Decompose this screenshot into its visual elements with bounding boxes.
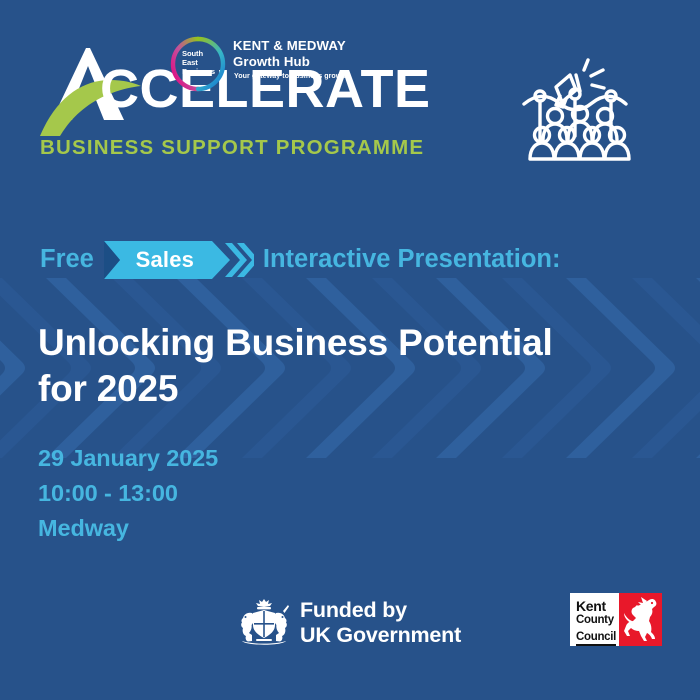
kicker-line: Free Sales Interactive Presentation: [40, 240, 560, 280]
kicker-prefix: Free [40, 247, 94, 273]
funded-by-line: Funded by [300, 598, 461, 623]
uk-government-line: UK Government [300, 623, 461, 648]
sales-badge: Sales [104, 241, 254, 279]
audience-megaphone-icon [518, 48, 643, 163]
kcc-emblem-box [619, 593, 662, 646]
event-details: 29 January 2025 10:00 - 13:00 Medway [38, 441, 218, 546]
growth-hub-title-line1: KENT & MEDWAY [233, 39, 346, 54]
kent-white-horse-icon [619, 593, 662, 646]
kcc-line-council: Council [576, 631, 616, 646]
accelerate-subtitle: BUSINESS SUPPORT PROGRAMME [40, 138, 424, 159]
uk-royal-coat-of-arms-icon [236, 597, 292, 647]
growth-hub-tagline: Your gateway to business growth [234, 73, 348, 80]
kicker-suffix: Interactive Presentation: [263, 247, 561, 273]
event-time: 10:00 - 13:00 [38, 476, 218, 511]
event-poster: CCELERATE BUSINESS SUPPORT PROGRAMME [0, 0, 700, 700]
kcc-line-kent: Kent [576, 599, 619, 614]
title-line-2: for 2025 [38, 366, 638, 412]
kcc-line-county: County [576, 614, 619, 626]
page-title: Unlocking Business Potential for 2025 [38, 320, 638, 412]
uk-government-wordmark: Funded by UK Government [300, 598, 461, 648]
event-location: Medway [38, 511, 218, 546]
sales-badge-label: Sales [104, 241, 226, 279]
kcc-text-block: Kent County Council [570, 593, 619, 646]
kent-county-council-logo: Kent County Council [570, 593, 662, 646]
kent-medway-growth-hub-logo: South East Business KENT & MEDWAY Growth… [170, 36, 355, 92]
growth-hub-title-line2: Growth Hub [233, 55, 310, 70]
event-date: 29 January 2025 [38, 441, 218, 476]
poster-header: CCELERATE BUSINESS SUPPORT PROGRAMME [0, 0, 700, 190]
title-line-1: Unlocking Business Potential [38, 320, 638, 366]
south-east-business-label: South East Business [182, 50, 218, 77]
funded-by-uk-government-logo: Funded by UK Government [236, 597, 468, 647]
seb-line-3: Business [182, 68, 218, 77]
